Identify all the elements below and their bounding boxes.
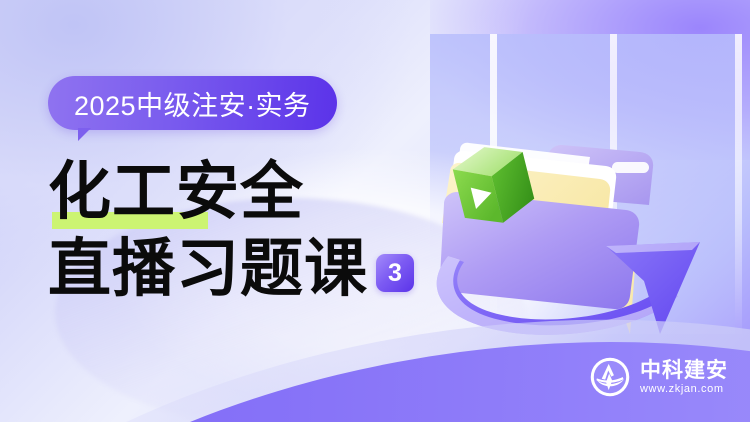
headline-title-primary: 化工安全	[48, 154, 304, 228]
course-promo-banner: 2025中级注安·实务 化工安全 直播习题课 3 中科建安 www.zkjan.…	[0, 0, 750, 422]
badge-tail	[78, 128, 100, 141]
headline-block: 化工安全 直播习题课 3	[48, 160, 468, 300]
illustration-folder-documents-arrow	[430, 100, 750, 340]
course-category-badge: 2025中级注安·实务	[48, 76, 337, 130]
course-category-label: 2025中级注安·实务	[74, 84, 311, 123]
headline-title-secondary: 直播习题课	[48, 237, 368, 300]
brand-logo: 中科建安 www.zkjan.com	[589, 356, 728, 398]
brand-emblem-icon	[589, 356, 631, 398]
headline-line-1: 化工安全	[48, 160, 468, 223]
episode-number-badge: 3	[376, 254, 414, 292]
brand-name: 中科建安	[640, 360, 728, 381]
headline-line-2: 直播习题课 3	[48, 237, 468, 300]
brand-url: www.zkjan.com	[640, 384, 728, 395]
